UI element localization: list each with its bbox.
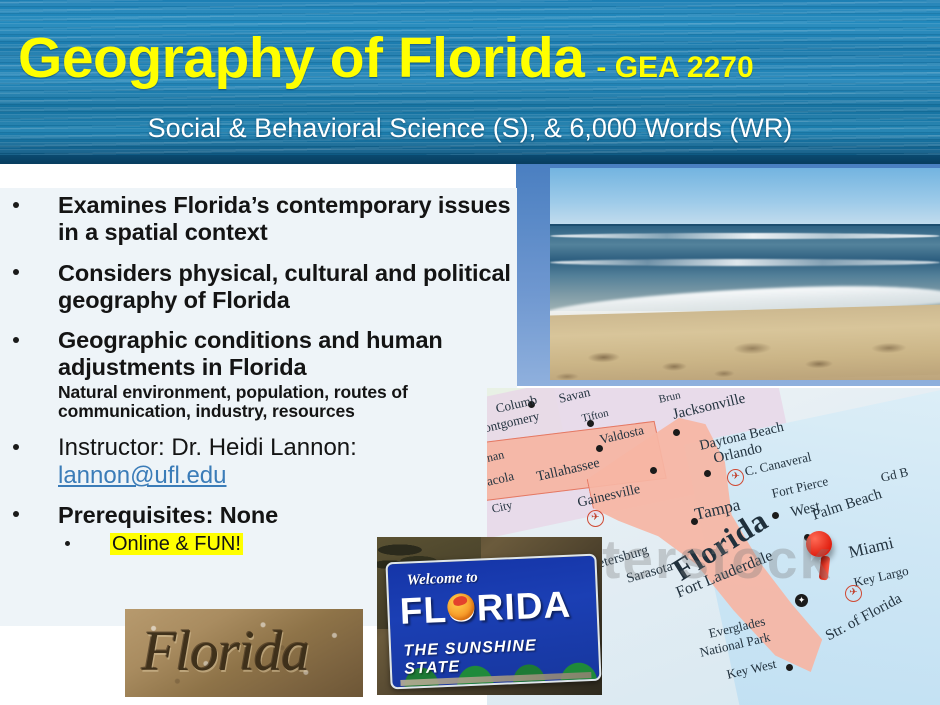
list-item-instructor: Instructor: Dr. Heidi Lannon: lannon@ufl… xyxy=(0,434,520,490)
page-title: Geography of Florida xyxy=(18,26,584,90)
sign-welcome-text: Welcome to xyxy=(407,569,479,589)
sub-note-text: Natural environment, population, routes … xyxy=(0,383,520,423)
title-row: Geography of Florida- GEA 2270 xyxy=(18,30,918,87)
instructor-label: Instructor: Dr. Heidi Lannon: xyxy=(58,434,357,461)
bullet-text: Examines Florida’s contemporary issues i… xyxy=(58,192,510,245)
airport-icon: ✈ xyxy=(845,585,862,602)
bullet-dot-icon xyxy=(65,541,70,546)
sign-state-text: FLORIDA xyxy=(399,583,572,632)
map-city-dot xyxy=(772,512,779,519)
list-item: Examines Florida’s contemporary issues i… xyxy=(0,192,520,247)
sky-region xyxy=(550,168,940,225)
list-item-prerequisites: Prerequisites: None xyxy=(0,502,520,529)
header-ocean-banner: Geography of Florida- GEA 2270 Social & … xyxy=(0,0,940,164)
prerequisites-text: Prerequisites: None xyxy=(58,502,278,528)
course-code: - GEA 2270 xyxy=(596,51,753,84)
map-city-dot xyxy=(673,429,680,436)
map-city-dot xyxy=(786,664,793,671)
subtitle: Social & Behavioral Science (S), & 6,000… xyxy=(0,113,940,144)
list-item: Considers physical, cultural and politic… xyxy=(0,260,520,315)
slide-geography-of-florida: Geography of Florida- GEA 2270 Social & … xyxy=(0,0,940,705)
instructor-email-link[interactable]: lannon@ufl.edu xyxy=(58,462,227,489)
florida-written-in-sand-photo: Florida xyxy=(125,609,363,697)
bullet-text: Geographic conditions and human adjustme… xyxy=(58,327,443,380)
beach-shoreline-photo xyxy=(550,168,940,380)
bullet-dot-icon xyxy=(13,511,19,517)
sand-word-text: Florida xyxy=(142,616,347,685)
bullet-text: Considers physical, cultural and politic… xyxy=(58,260,511,313)
bullet-dot-icon xyxy=(13,444,19,450)
airport-icon: ✈ xyxy=(727,469,744,486)
park-marker-icon: ✦ xyxy=(795,594,808,607)
sign-tagline-text: THE SUNSHINE STATE xyxy=(403,634,599,678)
bullet-dot-icon xyxy=(13,337,19,343)
highlighted-text: Online & FUN! xyxy=(110,533,243,555)
bullet-dot-icon xyxy=(13,202,19,208)
map-pin-icon xyxy=(806,531,832,557)
florida-welcome-sign-photo: Welcome to FLORIDA THE SUNSHINE STATE xyxy=(377,537,602,695)
bullet-dot-icon xyxy=(13,269,19,275)
sand-region xyxy=(550,305,940,380)
bullet-list: Examines Florida’s contemporary issues i… xyxy=(0,192,520,562)
airport-icon: ✈ xyxy=(587,510,604,527)
sign-board: Welcome to FLORIDA THE SUNSHINE STATE xyxy=(386,553,602,689)
list-item: Geographic conditions and human adjustme… xyxy=(0,327,520,382)
wave-crest xyxy=(550,233,940,239)
